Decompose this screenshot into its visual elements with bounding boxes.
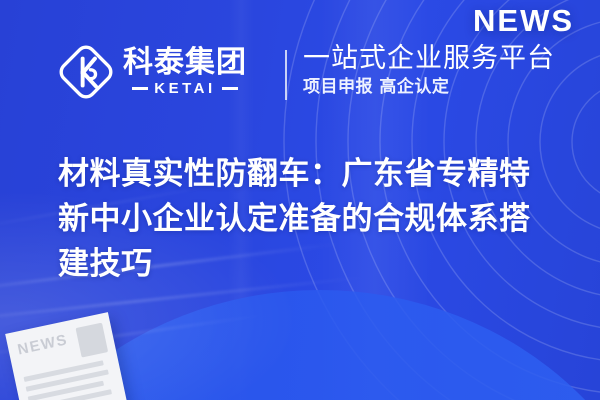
header-divider — [285, 50, 287, 100]
tagline-block: 一站式企业服务平台 项目申报 高企认定 — [303, 43, 555, 97]
brand-name-en: KETAI — [154, 80, 215, 97]
tagline-primary: 一站式企业服务平台 — [303, 43, 555, 75]
brand-name-en-row: KETAI — [132, 80, 237, 97]
ketai-diamond-kp-logo-icon — [58, 44, 114, 100]
image-block-placeholder-icon — [76, 323, 109, 358]
brand-lockup: 科泰集团 KETAI — [58, 44, 247, 100]
brand-wordmark: 科泰集团 KETAI — [123, 47, 247, 97]
news-label: NEWS — [473, 3, 574, 39]
wordmark-dash-left — [132, 87, 148, 90]
page-title: 材料真实性防翻车：广东省专精特新中小企业认定准备的合规体系搭建技巧 — [58, 152, 558, 287]
newspaper-heading: NEWS — [16, 332, 69, 357]
news-banner: NEWS 科泰集团 KETAI 一站式企业服务平台 项目申报 高企认定 材料真实… — [0, 0, 600, 400]
tagline-secondary: 项目申报 高企认定 — [303, 77, 555, 97]
brand-name-cn: 科泰集团 — [123, 47, 247, 79]
wordmark-dash-right — [222, 87, 238, 90]
